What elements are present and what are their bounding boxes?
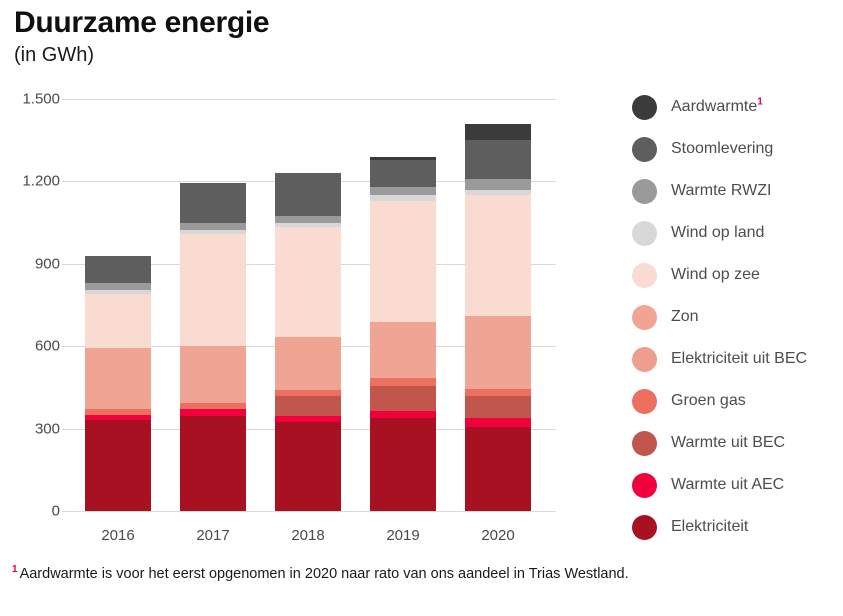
y-axis-tick-mark — [62, 99, 71, 100]
legend-item-label: Stoomlevering — [671, 140, 773, 158]
footnote-text: Aardwarmte is voor het eerst opgenomen i… — [20, 566, 629, 582]
bar-segment[interactable] — [180, 416, 246, 511]
bar-segment[interactable] — [465, 396, 531, 418]
legend-item-label: Elektriciteit uit BEC — [671, 350, 807, 368]
x-axis-tick-label: 2017 — [168, 527, 258, 544]
y-axis-tick-mark — [62, 429, 71, 430]
bar-segment[interactable] — [85, 420, 151, 511]
y-axis-tick-label: 900 — [35, 255, 60, 272]
bar-segment[interactable] — [85, 283, 151, 290]
bar-2020[interactable] — [465, 124, 531, 511]
legend-swatch-icon — [632, 305, 657, 330]
bar-segment[interactable] — [275, 337, 341, 391]
legend-item-wind-op-land[interactable]: Wind op land — [632, 212, 842, 254]
bar-segment[interactable] — [85, 294, 151, 348]
legend-swatch-icon — [632, 221, 657, 246]
bar-segment[interactable] — [370, 386, 436, 411]
bar-segment[interactable] — [275, 422, 341, 511]
legend-item-label: Wind op zee — [671, 266, 760, 284]
x-axis-tick-label: 2019 — [358, 527, 448, 544]
legend-item-label: Warmte RWZI — [671, 182, 771, 200]
legend-swatch-icon — [632, 137, 657, 162]
legend-item-label: Elektriciteit — [671, 518, 748, 536]
legend-item-aardwarmte[interactable]: Aardwarmte1 — [632, 86, 842, 128]
bar-segment[interactable] — [180, 183, 246, 223]
legend-item-zon[interactable]: Zon — [632, 296, 842, 338]
y-axis-tick-label: 1.200 — [22, 173, 60, 190]
bar-segment[interactable] — [180, 346, 246, 402]
gridline — [70, 511, 556, 512]
legend-item-wind-op-zee[interactable]: Wind op zee — [632, 254, 842, 296]
legend-item-warmte-uit-bec[interactable]: Warmte uit BEC — [632, 422, 842, 464]
bar-segment[interactable] — [85, 256, 151, 283]
y-axis-tick-label: 600 — [35, 338, 60, 355]
legend-footnote-marker: 1 — [757, 97, 763, 108]
legend-swatch-icon — [632, 515, 657, 540]
legend-swatch-icon — [632, 431, 657, 456]
legend-swatch-icon — [632, 263, 657, 288]
bar-segment[interactable] — [370, 411, 436, 418]
bar-segment[interactable] — [85, 348, 151, 410]
y-axis-tick-label: 1.500 — [22, 91, 60, 108]
x-axis-tick-label: 2020 — [453, 527, 543, 544]
chart-page: Duurzame energie (in GWh) 03006009001.20… — [0, 0, 843, 616]
legend-item-label: Aardwarmte1 — [671, 98, 763, 116]
bar-segment[interactable] — [275, 173, 341, 216]
legend-item-label: Warmte uit BEC — [671, 434, 785, 452]
bar-segment[interactable] — [465, 179, 531, 190]
legend-item-stoomlevering[interactable]: Stoomlevering — [632, 128, 842, 170]
x-axis-tick-label: 2018 — [263, 527, 353, 544]
bar-segment[interactable] — [275, 227, 341, 337]
x-axis-tick-label: 2016 — [73, 527, 163, 544]
footnote-marker: 1 — [12, 564, 18, 575]
bar-2016[interactable] — [85, 256, 151, 511]
bar-segment[interactable] — [370, 418, 436, 511]
bar-segment[interactable] — [370, 322, 436, 378]
bar-2017[interactable] — [180, 183, 246, 511]
bar-segment[interactable] — [180, 234, 246, 347]
y-axis-tick-mark — [62, 264, 71, 265]
y-axis-tick-mark — [62, 346, 71, 347]
legend-swatch-icon — [632, 473, 657, 498]
y-axis-tick-label: 0 — [52, 503, 60, 520]
bar-segment[interactable] — [180, 409, 246, 416]
bar-segment[interactable] — [370, 187, 436, 195]
legend-item-groen-gas[interactable]: Groen gas — [632, 380, 842, 422]
legend-item-warmte-uit-aec[interactable]: Warmte uit AEC — [632, 464, 842, 506]
y-axis-tick-label: 300 — [35, 420, 60, 437]
plot-area — [70, 99, 556, 511]
bar-segment[interactable] — [275, 396, 341, 417]
y-axis-tick-mark — [62, 181, 71, 182]
legend-item-elektriciteit[interactable]: Elektriciteit — [632, 506, 842, 548]
legend-swatch-icon — [632, 95, 657, 120]
bar-segment[interactable] — [370, 201, 436, 322]
legend-swatch-icon — [632, 347, 657, 372]
bar-segment[interactable] — [180, 403, 246, 410]
bar-segment[interactable] — [465, 124, 531, 140]
bar-2019[interactable] — [370, 157, 436, 511]
bar-segment[interactable] — [180, 223, 246, 230]
legend-swatch-icon — [632, 179, 657, 204]
y-axis-tick-mark — [62, 511, 71, 512]
bar-segment[interactable] — [465, 195, 531, 316]
legend-item-label: Zon — [671, 308, 699, 326]
bar-segment[interactable] — [465, 389, 531, 396]
bar-segment[interactable] — [465, 427, 531, 511]
bar-segment[interactable] — [370, 378, 436, 386]
page-subtitle: (in GWh) — [14, 44, 94, 67]
bar-segment[interactable] — [275, 216, 341, 223]
bar-segment[interactable] — [465, 140, 531, 178]
bar-segment[interactable] — [465, 418, 531, 428]
legend-item-elektriciteit-uit-bec[interactable]: Elektriciteit uit BEC — [632, 338, 842, 380]
chart-legend: Aardwarmte1StoomleveringWarmte RWZIWind … — [632, 86, 842, 548]
legend-item-label: Warmte uit AEC — [671, 476, 784, 494]
page-title: Duurzame energie — [14, 6, 269, 40]
legend-item-label: Wind op land — [671, 224, 764, 242]
footnote: 1Aardwarmte is voor het eerst opgenomen … — [12, 566, 629, 582]
bar-segment[interactable] — [370, 160, 436, 187]
legend-item-warmte-rwzi[interactable]: Warmte RWZI — [632, 170, 842, 212]
legend-item-label: Groen gas — [671, 392, 746, 410]
legend-swatch-icon — [632, 389, 657, 414]
bar-segment[interactable] — [465, 316, 531, 389]
bar-2018[interactable] — [275, 173, 341, 511]
gridline — [70, 99, 556, 100]
